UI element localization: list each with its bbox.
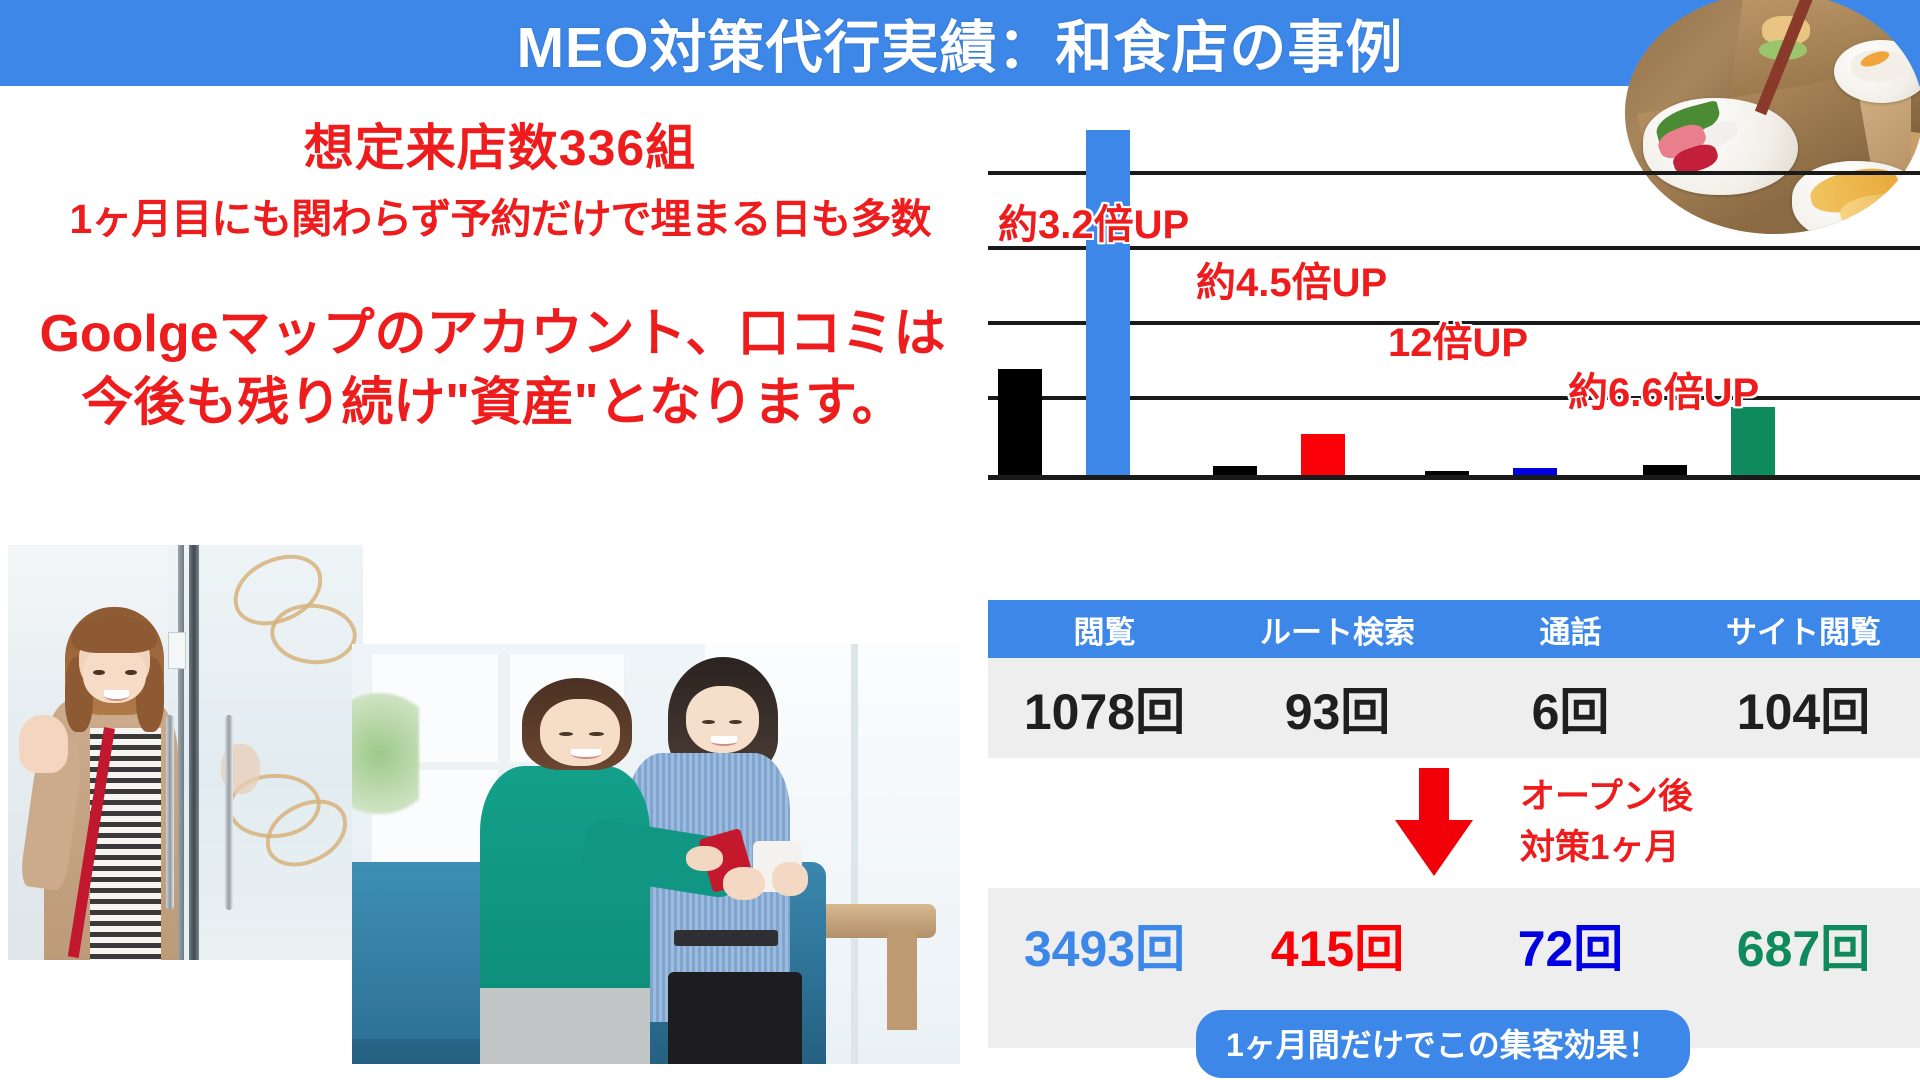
stats-after-cell-3: 687回	[1687, 910, 1920, 980]
stats-before-cell-3: 104回	[1687, 658, 1920, 758]
customers-smartphone-photo	[352, 644, 960, 1064]
stats-header-cell-2: 通話	[1454, 600, 1687, 658]
chart-annotation-3: 約6.6倍UP	[1568, 360, 1759, 418]
stats-after-cell-1: 415回	[1221, 910, 1454, 980]
after-open-note: オープン後 対策1ヶ月	[1520, 772, 1800, 874]
store-entrance-photo	[8, 545, 363, 960]
asset-message-line2: 今後も残り続け"資産"となります。	[0, 369, 985, 438]
after-open-note-line1: オープン後	[1520, 772, 1800, 823]
before-after-bar-chart: 約3.2倍UP約4.5倍UP12倍UP約6.6倍UP	[988, 100, 1920, 480]
chart-bar-before-1	[1213, 466, 1257, 475]
chart-annotation-2: 12倍UP	[1388, 310, 1528, 368]
chart-bar-after-0	[1086, 130, 1130, 475]
visit-count-subline: 1ヶ月目にも関わらず予約だけで埋まる日も多数	[0, 185, 1000, 245]
asset-message: Goolgeマップのアカウント、口コミは 今後も残り続け"資産"となります。	[0, 300, 985, 437]
effect-badge: 1ヶ月間だけでこの集客効果！	[1196, 1010, 1690, 1078]
stats-after-cell-2: 72回	[1454, 910, 1687, 980]
stats-after-cell-0: 3493回	[988, 910, 1221, 980]
stats-table-header: 閲覧ルート検索通話サイト閲覧	[988, 600, 1920, 658]
stats-before-cell-1: 93回	[1221, 658, 1454, 758]
stats-table-before-row: 1078回93回6回104回	[988, 658, 1920, 758]
chart-baseline	[988, 475, 1920, 480]
chart-bar-after-1	[1301, 434, 1345, 475]
stats-header-cell-0: 閲覧	[988, 600, 1221, 658]
after-open-note-line2: 対策1ヶ月	[1520, 823, 1800, 874]
stats-before-cell-0: 1078回	[988, 658, 1221, 758]
chart-annotation-0: 約3.2倍UP	[998, 192, 1189, 250]
stats-header-cell-1: ルート検索	[1221, 600, 1454, 658]
asset-message-line1: Goolgeマップのアカウント、口コミは	[0, 300, 985, 369]
chart-bar-after-2	[1513, 468, 1557, 475]
chart-bar-before-2	[1425, 471, 1469, 475]
visit-count-headline: 想定来店数336組	[240, 108, 760, 180]
chart-bar-before-0	[998, 369, 1042, 475]
chart-annotation-1: 約4.5倍UP	[1196, 250, 1387, 308]
chart-bar-before-3	[1643, 465, 1687, 475]
down-arrow-icon	[1393, 768, 1475, 878]
stats-header-cell-3: サイト閲覧	[1687, 600, 1920, 658]
stats-before-cell-2: 6回	[1454, 658, 1687, 758]
